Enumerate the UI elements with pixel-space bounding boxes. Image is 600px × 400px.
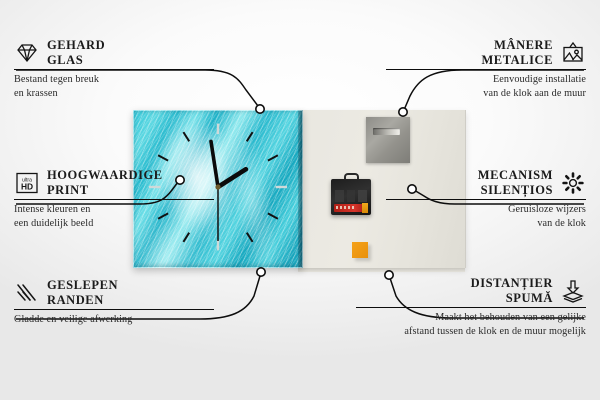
mechanism-body [331, 179, 371, 215]
feature-gehard-glas: GEHARD GLAS Bestand tegen breuk en krass… [14, 38, 214, 100]
feature-title-line2: METALICE [481, 53, 553, 68]
feature-desc-line2: afstand tussen de klok en de muur mogeli… [356, 325, 586, 338]
feature-desc-line1: Bestand tegen breuk [14, 73, 214, 86]
feature-title-line1: GESLEPEN [47, 278, 118, 293]
feature-rule [386, 199, 586, 200]
feature-rule [14, 309, 214, 310]
feature-title-line2: PRINT [47, 183, 163, 198]
picture-hanger-icon [560, 41, 586, 65]
feature-title-line2: SILENȚIOS [478, 183, 553, 198]
metal-hanger-plate [366, 117, 410, 163]
feature-title-line2: GLAS [47, 53, 105, 68]
feature-desc-line2: een duidelijk beeld [14, 217, 214, 230]
feature-title-line2: RANDEN [47, 293, 118, 308]
clock-mechanism [331, 173, 371, 215]
clock-center-pin [215, 184, 220, 189]
feature-distantier-spuma: DISTANȚIER SPUMĂ Maakt het behouden van … [356, 276, 586, 338]
ultra-hd-icon: ultra HD [14, 171, 40, 195]
feature-hoogwaardige-print: ultra HD HOOGWAARDIGE PRINT Intense kleu… [14, 168, 214, 230]
feature-desc-line2: van de klok aan de muur [386, 87, 586, 100]
feature-title-line1: DISTANȚIER [471, 276, 553, 291]
diagonal-lines-icon [14, 281, 40, 305]
feature-rule [14, 69, 214, 70]
svg-text:HD: HD [21, 181, 33, 191]
feature-desc-line1: Intense kleuren en [14, 203, 214, 216]
feature-desc-line2: van de klok [386, 217, 586, 230]
callout-dot-randen [257, 268, 265, 276]
feature-desc-line2: en krassen [14, 87, 214, 100]
feature-title-line1: GEHARD [47, 38, 105, 53]
feature-desc-line1: Eenvoudige installatie [386, 73, 586, 86]
battery-terminal [362, 203, 368, 213]
foam-spacer [352, 242, 368, 258]
feature-rule [356, 307, 586, 308]
battery-label [336, 206, 356, 209]
feature-desc-line1: Geruisloze wijzers [386, 203, 586, 216]
gear-icon [560, 171, 586, 195]
arrow-layers-icon [560, 279, 586, 303]
feature-mecanism-silentios: MECANISM SILENȚIOS Geruisloze wijzers va… [386, 168, 586, 230]
hanger-keyhole-slot [373, 128, 400, 135]
feature-title-line1: HOOGWAARDIGE [47, 168, 163, 183]
mechanism-detail [335, 190, 367, 202]
feature-desc-line1: Gladde en veilige afwerking [14, 313, 214, 326]
diamond-icon [14, 41, 40, 65]
feature-desc-line1: Maakt het behouden van een gelijke [356, 311, 586, 324]
feature-rule [386, 69, 586, 70]
infographic-stage: GEHARD GLAS Bestand tegen breuk en krass… [0, 0, 600, 400]
feature-manere-metalice: MÂNERE METALICE Eenvoudige installatie v… [386, 38, 586, 100]
feature-title-line2: SPUMĂ [471, 291, 553, 306]
feature-geslepen-randen: GESLEPEN RANDEN Gladde en veilige afwerk… [14, 278, 214, 327]
feature-title-line1: MÂNERE [481, 38, 553, 53]
feature-rule [14, 199, 214, 200]
feature-title-line1: MECANISM [478, 168, 553, 183]
